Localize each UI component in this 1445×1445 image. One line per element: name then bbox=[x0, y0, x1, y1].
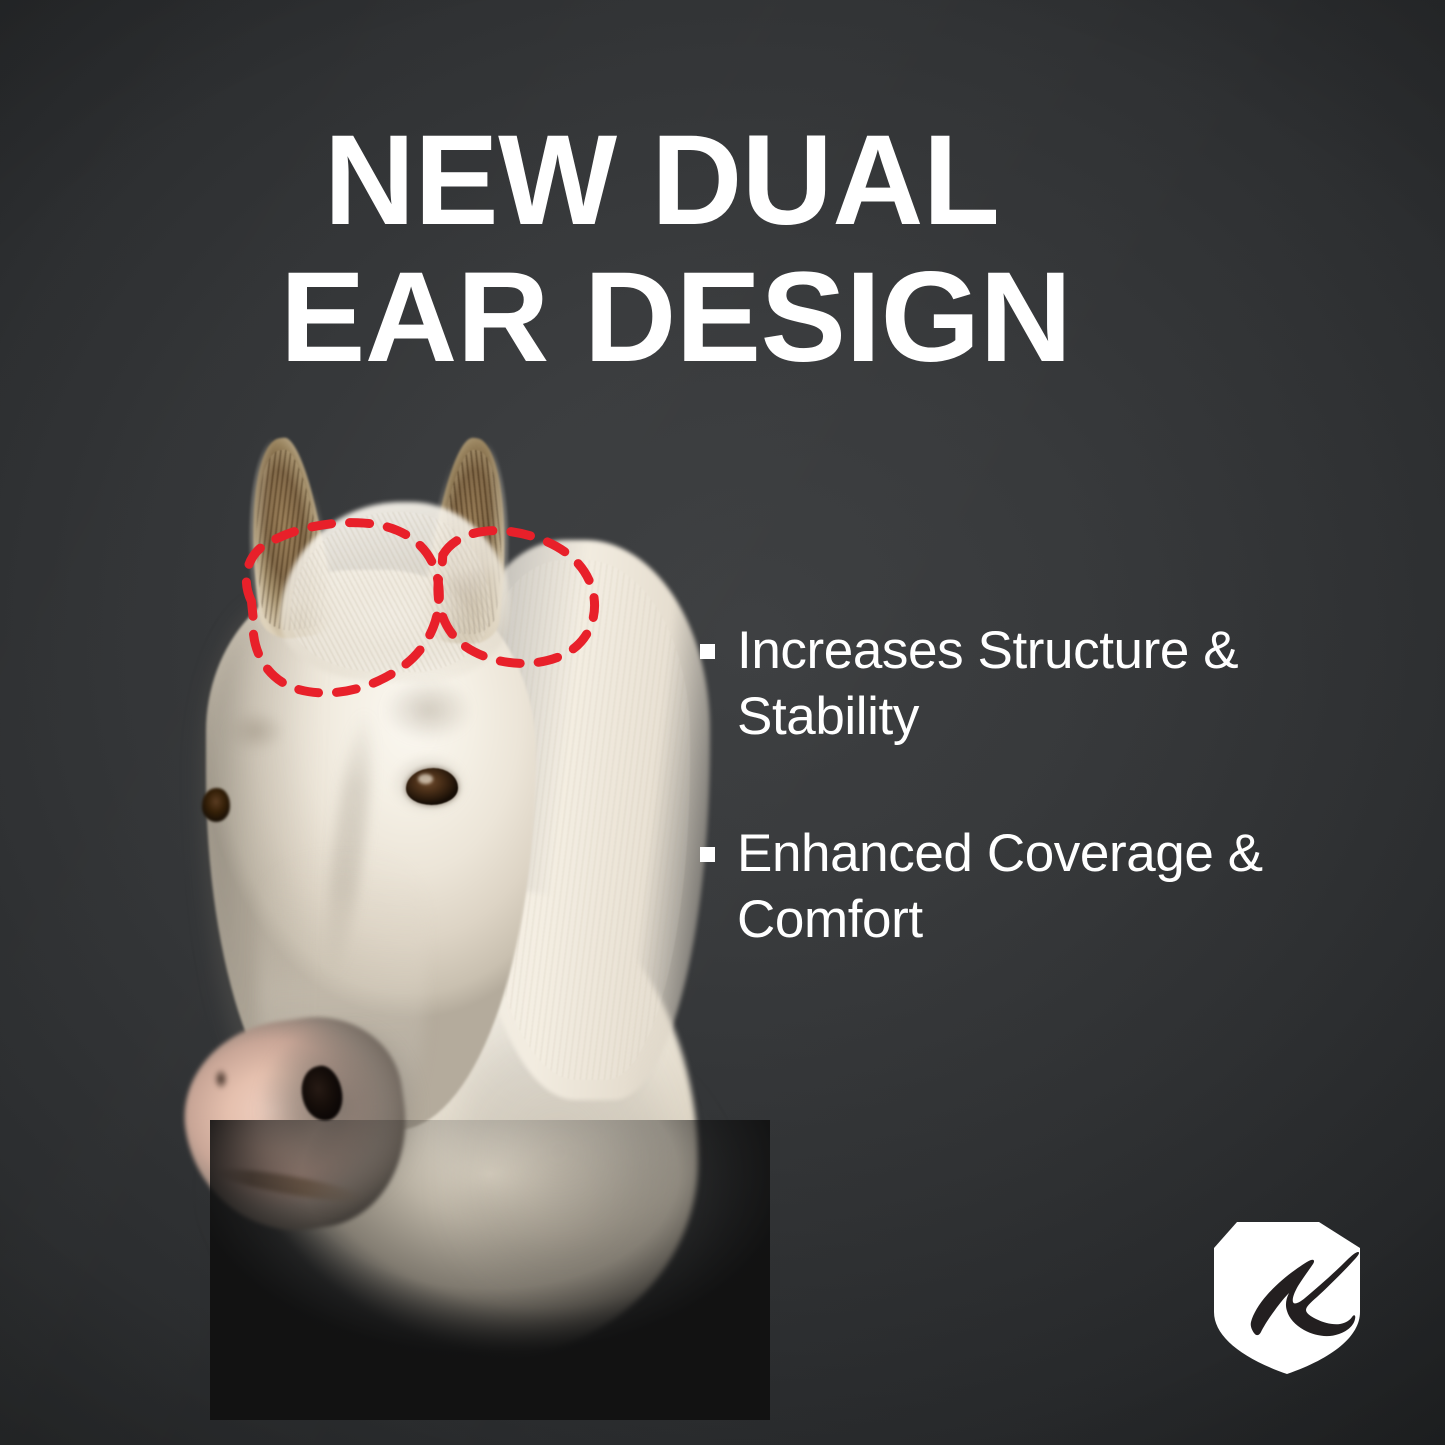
feature-list: Increases Structure & Stability Enhanced… bbox=[700, 618, 1360, 953]
horse-brow-left bbox=[214, 702, 296, 760]
headline-line-1: NEW DUAL bbox=[324, 118, 1179, 243]
list-item-label: Enhanced Coverage & Comfort bbox=[737, 821, 1347, 952]
list-item: Enhanced Coverage & Comfort bbox=[700, 821, 1360, 952]
shield-k-logo bbox=[1207, 1216, 1367, 1378]
horse-eye-left bbox=[202, 788, 230, 822]
list-item: Increases Structure & Stability bbox=[700, 618, 1360, 749]
horse-nostril-far bbox=[212, 1066, 230, 1092]
square-bullet-icon bbox=[700, 644, 715, 659]
horse-photo bbox=[150, 420, 770, 1370]
page-title: NEW DUAL EAR DESIGN bbox=[272, 118, 1192, 381]
square-bullet-icon bbox=[700, 847, 715, 862]
horse-eye-glint bbox=[418, 774, 433, 784]
horse-eye-right bbox=[406, 768, 458, 805]
headline-line-2: EAR DESIGN bbox=[280, 255, 1192, 380]
product-feature-poster: NEW DUAL EAR DESIGN Increases Structure … bbox=[0, 0, 1445, 1445]
horse-bottom-fade bbox=[210, 1120, 770, 1420]
list-item-label: Increases Structure & Stability bbox=[737, 618, 1347, 749]
